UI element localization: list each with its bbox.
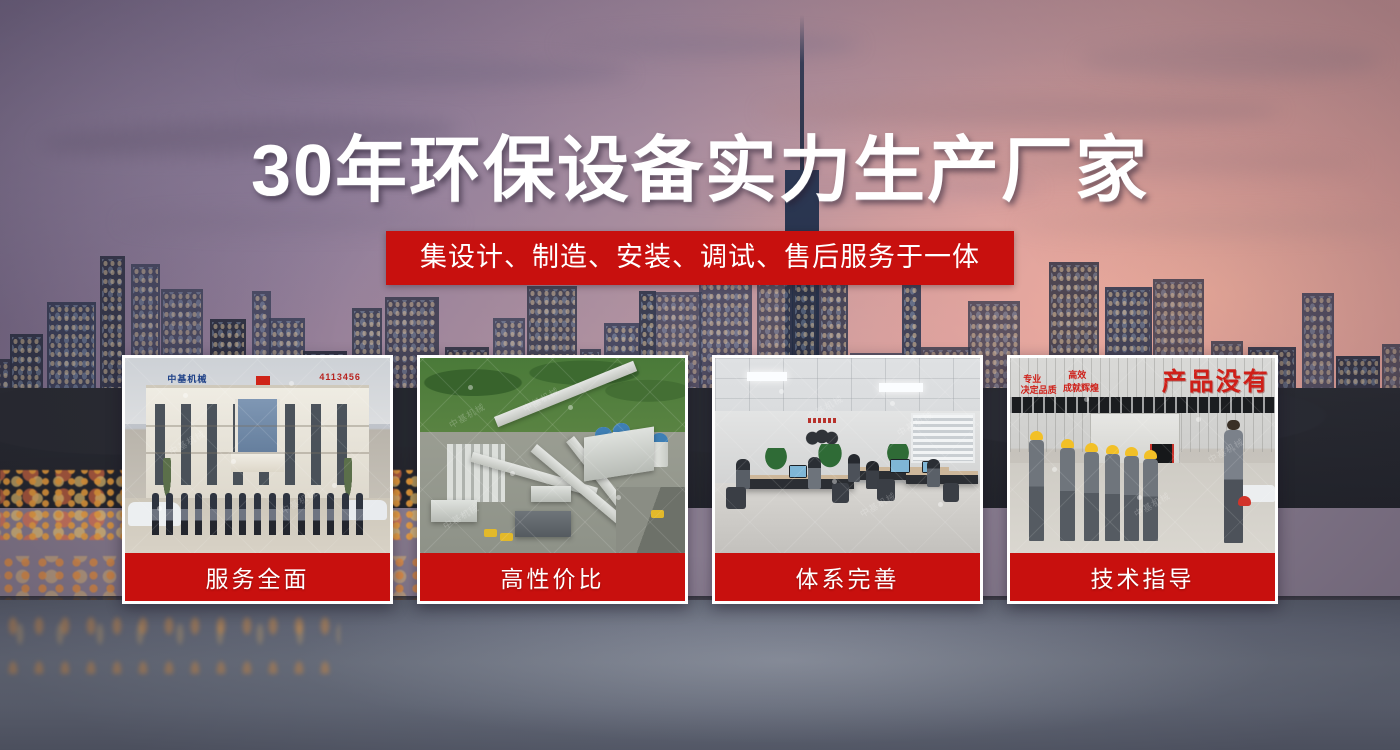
photo-office-interior: 中基机械 中基机械 中基机械	[715, 358, 980, 553]
factory-windows	[1010, 397, 1275, 413]
promo-banner: 30年环保设备实力生产厂家 集设计、制造、安装、调试、售后服务于一体 中基机械 …	[0, 0, 1400, 750]
worker	[1143, 459, 1158, 541]
factory-slogan: 高效	[1068, 370, 1086, 381]
card-caption: 技术指导	[1010, 553, 1275, 601]
feature-card[interactable]: 中基机械 4113456	[122, 355, 393, 604]
banner-content: 30年环保设备实力生产厂家 集设计、制造、安装、调试、售后服务于一体 中基机械 …	[0, 0, 1400, 750]
shed	[531, 486, 571, 502]
building-phone-text: 4113456	[319, 372, 361, 382]
wall-decal	[802, 418, 842, 446]
building-sign-text: 中基机械	[167, 372, 207, 385]
subtitle-banner: 集设计、制造、安装、调试、售后服务于一体	[386, 231, 1014, 285]
factory-banner-text: 产品没有	[1162, 362, 1270, 398]
worker	[1060, 448, 1075, 542]
supervisor	[1224, 430, 1243, 543]
ceiling-grid	[715, 358, 980, 413]
card-caption: 服务全面	[125, 553, 390, 601]
feature-cards: 中基机械 4113456	[122, 355, 1278, 604]
shed	[431, 500, 477, 522]
headline: 30年环保设备实力生产厂家	[0, 131, 1400, 211]
factory-slogan: 决定品质	[1021, 385, 1057, 396]
photo-office-building: 中基机械 4113456	[125, 358, 390, 553]
photo-workers-training: 产品没有 专业 决定品质 高效 成就辉煌	[1010, 358, 1275, 553]
worker	[1124, 456, 1139, 542]
feature-card[interactable]: 中基机械 中基机械 中基机械 体系完善	[712, 355, 983, 604]
entrance-portico	[231, 452, 284, 472]
access-road	[616, 487, 685, 553]
card-caption: 体系完善	[715, 553, 980, 601]
worker	[1084, 452, 1099, 542]
worker	[1029, 440, 1044, 541]
red-helmet	[1238, 496, 1251, 506]
feature-card[interactable]: 产品没有 专业 决定品质 高效 成就辉煌	[1007, 355, 1278, 604]
shed	[515, 511, 571, 537]
factory-slogan: 成就辉煌	[1063, 383, 1099, 394]
flag-icon	[256, 376, 270, 385]
staff-lineup	[152, 493, 364, 536]
desk	[906, 475, 978, 484]
photo-plant-aerial: 中基机械 中基机械 中基机械	[420, 358, 685, 553]
window-blinds	[911, 413, 975, 464]
factory-slogan: 专业	[1023, 374, 1041, 385]
office-building	[146, 385, 369, 498]
feature-card[interactable]: 中基机械 中基机械 中基机械 高性价比	[417, 355, 688, 604]
worker	[1105, 454, 1120, 542]
card-caption: 高性价比	[420, 553, 685, 601]
